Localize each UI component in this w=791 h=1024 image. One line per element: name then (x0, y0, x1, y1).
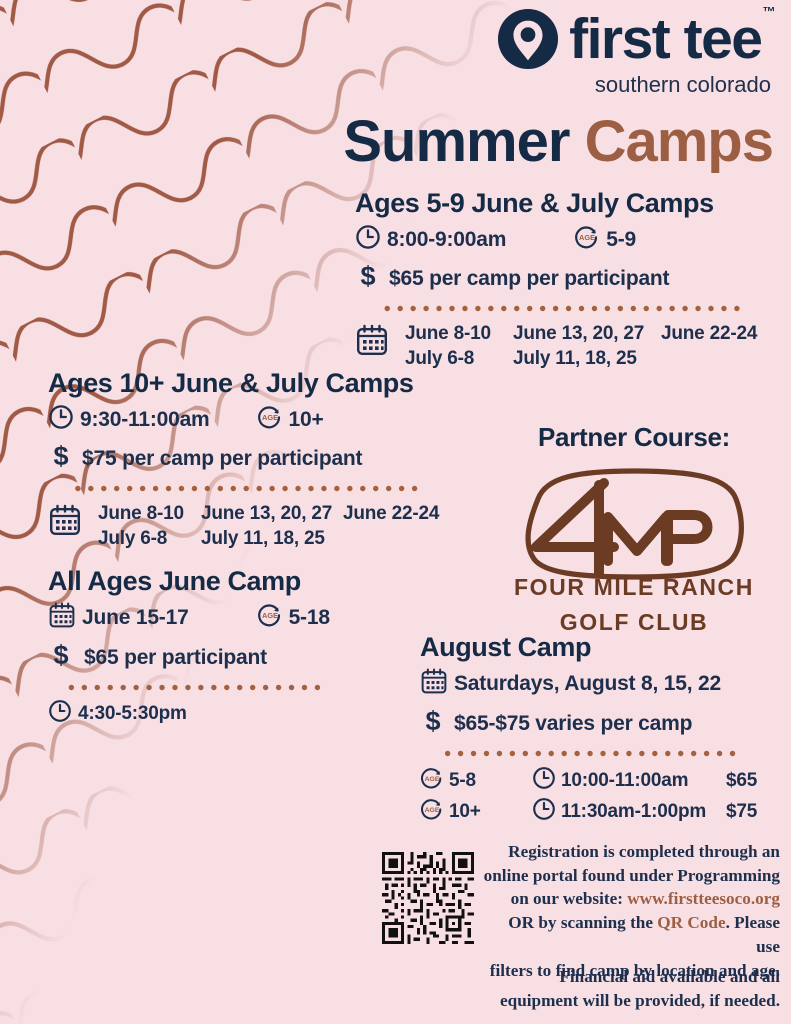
svg-text:$: $ (360, 261, 375, 291)
date-value: July 11, 18, 25 (513, 346, 661, 371)
partner-course-title: Partner Course: (490, 422, 778, 453)
age-icon: AGE (420, 766, 444, 795)
registration-text: Registration is completed through an onl… (482, 840, 780, 982)
date-value: July 6-8 (98, 526, 201, 551)
date-value: June 8-10 (405, 321, 513, 346)
time-value: 10:00-11:00am (561, 770, 726, 792)
svg-text:AGE: AGE (262, 611, 278, 620)
four-mile-ranch-4mr-logo-icon: FOUR MILE RANCH (496, 455, 772, 607)
age-icon: AGE (574, 224, 600, 255)
wordmark-text: first tee (569, 7, 761, 71)
logo-subtitle: southern colorado (497, 72, 773, 98)
date-column: June 13, 20, 27 July 11, 18, 25 (201, 501, 343, 551)
august-session-row: AGE 10+ 11:30am-1:00pm $75 (420, 797, 780, 826)
dollar-icon: $ (48, 441, 74, 476)
wordmark: first tee™ (569, 11, 773, 68)
reg-line-4-suffix: . Please use (726, 913, 780, 956)
svg-text:$: $ (53, 640, 68, 670)
age-icon: AGE (257, 404, 283, 435)
time-value: 11:30am-1:00pm (561, 801, 726, 823)
section-heading: Ages 10+ June & July Camps (48, 368, 488, 399)
price-value: $65-$75 varies per camp (454, 712, 692, 736)
august-session-row: AGE 5-8 10:00-11:00am $65 (420, 766, 780, 795)
price-value: $75 (726, 801, 757, 823)
svg-text:AGE: AGE (425, 776, 440, 783)
price-value: $65 (726, 770, 757, 792)
date-value: Saturdays, August 8, 15, 22 (454, 672, 721, 696)
dollar-icon: $ (420, 706, 446, 741)
date-column: June 8-10 July 6-8 (405, 321, 513, 371)
date-column: June 8-10 July 6-8 (98, 501, 201, 551)
age-value: 10+ (449, 801, 532, 823)
section-heading: All Ages June Camp (48, 566, 408, 597)
first-tee-pin-icon (497, 8, 559, 70)
calendar-icon (420, 667, 448, 700)
partner-name-line1: FOUR MILE RANCH (514, 574, 754, 600)
age-value: 5-8 (449, 770, 532, 792)
note-line-1: Financial aid available and all (559, 967, 780, 986)
date-value: June 15-17 (82, 606, 189, 630)
summer-camps-poster: first tee™ southern colorado Summer Camp… (0, 0, 791, 1024)
price-value: $65 per participant (84, 646, 267, 670)
svg-text:AGE: AGE (262, 413, 278, 422)
clock-icon (532, 766, 556, 795)
price-value: $65 per camp per participant (389, 267, 669, 291)
financial-aid-note: Financial aid available and all equipmen… (382, 965, 780, 1012)
reg-line-4-prefix: OR by scanning the (508, 913, 657, 932)
dollar-icon: $ (355, 261, 381, 296)
dotted-divider (424, 750, 760, 757)
svg-text:$: $ (425, 706, 440, 736)
section-all-ages-june: All Ages June Camp June 15-17 AGE (48, 566, 408, 728)
dollar-icon: $ (48, 640, 74, 675)
svg-text:AGE: AGE (425, 807, 440, 814)
age-value: 5-9 (606, 228, 636, 252)
section-ages-5-9: Ages 5-9 June & July Camps 8:00-9:00am A… (355, 188, 779, 371)
qr-code-label: QR Code (657, 913, 725, 932)
section-heading: Ages 5-9 June & July Camps (355, 188, 779, 219)
date-column: June 13, 20, 27 July 11, 18, 25 (513, 321, 661, 371)
clock-icon (48, 404, 74, 435)
dotted-divider (359, 305, 769, 312)
clock-icon (532, 797, 556, 826)
price-value: $75 per camp per participant (82, 447, 362, 471)
age-icon: AGE (420, 797, 444, 826)
clock-icon (48, 699, 72, 728)
title-part-camps: Camps (585, 109, 773, 174)
brand-logo-block: first tee™ southern colorado (497, 8, 773, 98)
qr-code-icon[interactable] (382, 852, 474, 944)
date-value: June 13, 20, 27 (201, 501, 343, 526)
calendar-icon (48, 503, 82, 542)
svg-text:AGE: AGE (579, 233, 595, 242)
note-line-2: equipment will be provided, if needed. (500, 991, 780, 1010)
age-value: 5-18 (289, 606, 330, 630)
time-value: 9:30-11:00am (80, 408, 210, 432)
title-part-summer: Summer (343, 109, 569, 174)
date-value: June 22-24 (343, 501, 439, 526)
section-ages-10-plus: Ages 10+ June & July Camps 9:30-11:00am … (48, 368, 488, 551)
time-value: 4:30-5:30pm (78, 703, 187, 725)
website-link[interactable]: www.firstteesoco.org (627, 889, 780, 908)
calendar-icon (48, 601, 76, 634)
registration-block: Registration is completed through an onl… (382, 840, 780, 982)
page-title: Summer Camps (343, 112, 773, 173)
date-value: June 13, 20, 27 (513, 321, 661, 346)
dotted-divider (50, 485, 454, 492)
partner-name-line2: GOLF CLUB (560, 609, 709, 635)
reg-line-2: online portal found under Programming (484, 866, 780, 885)
trademark-symbol: ™ (763, 4, 775, 19)
partner-course-block: Partner Course: FOUR MILE RANCH GOLF CLU… (490, 422, 778, 643)
reg-line-3-prefix: on our website: (511, 889, 628, 908)
section-august-camp: August Camp Saturdays, August 8, 15, 22 … (420, 632, 780, 826)
date-value: June 8-10 (98, 501, 201, 526)
svg-text:$: $ (53, 441, 68, 471)
reg-line-1: Registration is completed through an (508, 842, 780, 861)
age-value: 10+ (289, 408, 324, 432)
date-value: July 11, 18, 25 (201, 526, 343, 551)
age-icon: AGE (257, 602, 283, 633)
dotted-divider (50, 684, 350, 691)
calendar-icon (355, 323, 389, 362)
date-value: June 22-24 (661, 321, 757, 346)
time-value: 8:00-9:00am (387, 228, 506, 252)
clock-icon (355, 224, 381, 255)
date-column: June 22-24 (661, 321, 757, 346)
date-column: June 22-24 (343, 501, 439, 526)
